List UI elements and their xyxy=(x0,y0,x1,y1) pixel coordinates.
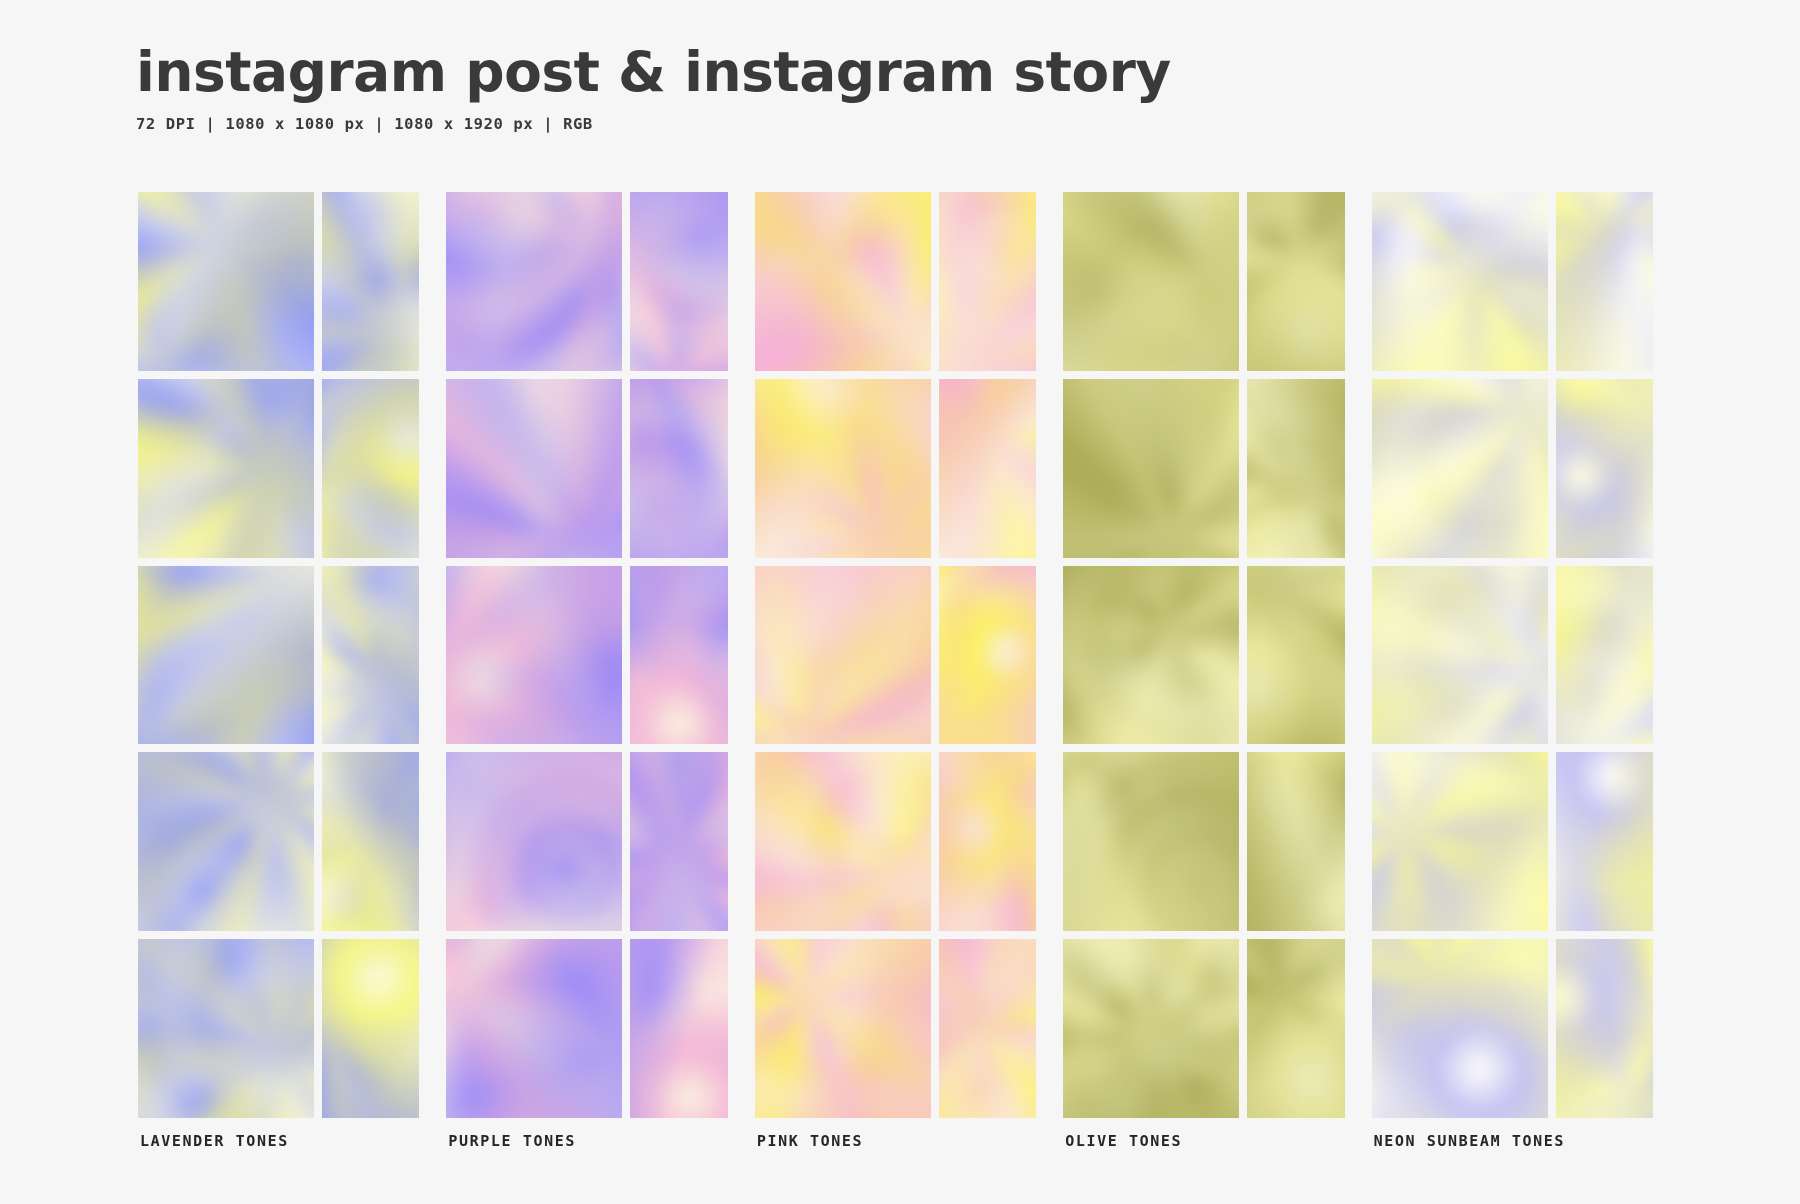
gradient-fade-layer xyxy=(322,379,420,558)
instagram-story-thumbnail[interactable] xyxy=(630,192,728,371)
mockup-row xyxy=(446,192,727,371)
gradient-fade-layer xyxy=(1372,566,1548,745)
mockup-row xyxy=(138,939,419,1118)
gradient-fade-layer xyxy=(1372,939,1548,1118)
instagram-story-thumbnail[interactable] xyxy=(1247,379,1345,558)
tone-group-label: PURPLE TONES xyxy=(448,1132,576,1150)
page-title: instagram post & instagram story xyxy=(136,44,1436,102)
instagram-story-thumbnail[interactable] xyxy=(322,379,420,558)
instagram-story-thumbnail[interactable] xyxy=(322,566,420,745)
gradient-fade-layer xyxy=(1247,566,1345,745)
gradient-fade-layer xyxy=(1372,192,1548,371)
instagram-story-thumbnail[interactable] xyxy=(1247,752,1345,931)
mockup-row xyxy=(1063,192,1344,371)
tone-group-label: LAVENDER TONES xyxy=(140,1132,289,1150)
gradient-fade-layer xyxy=(1556,379,1654,558)
gradient-fade-layer xyxy=(138,379,314,558)
instagram-story-thumbnail[interactable] xyxy=(939,752,1037,931)
gradient-fade-layer xyxy=(138,192,314,371)
instagram-post-thumbnail[interactable] xyxy=(138,566,314,745)
tone-group-label: PINK TONES xyxy=(757,1132,863,1150)
instagram-post-thumbnail[interactable] xyxy=(1372,379,1548,558)
gradient-fade-layer xyxy=(322,566,420,745)
gradient-fade-layer xyxy=(138,939,314,1118)
instagram-post-thumbnail[interactable] xyxy=(446,752,622,931)
instagram-story-thumbnail[interactable] xyxy=(630,566,728,745)
gradient-fade-layer xyxy=(322,192,420,371)
tone-group-label: OLIVE TONES xyxy=(1065,1132,1182,1150)
gradient-fade-layer xyxy=(1247,939,1345,1118)
instagram-post-thumbnail[interactable] xyxy=(755,192,931,371)
instagram-story-thumbnail[interactable] xyxy=(1247,566,1345,745)
gradient-fade-layer xyxy=(939,379,1037,558)
mockup-row xyxy=(1372,192,1653,371)
mockup-row xyxy=(1063,752,1344,931)
instagram-post-thumbnail[interactable] xyxy=(446,192,622,371)
instagram-post-thumbnail[interactable] xyxy=(1372,192,1548,371)
mockup-row xyxy=(755,566,1036,745)
instagram-story-thumbnail[interactable] xyxy=(322,752,420,931)
gradient-fade-layer xyxy=(939,939,1037,1118)
tone-group-pink: PINK TONES xyxy=(755,192,1036,1118)
gradient-fade-layer xyxy=(1063,192,1239,371)
instagram-story-thumbnail[interactable] xyxy=(630,939,728,1118)
instagram-post-thumbnail[interactable] xyxy=(1063,379,1239,558)
instagram-story-thumbnail[interactable] xyxy=(939,939,1037,1118)
tone-group-rows xyxy=(1372,192,1653,1118)
gradient-fade-layer xyxy=(939,566,1037,745)
instagram-post-thumbnail[interactable] xyxy=(446,379,622,558)
gradient-fade-layer xyxy=(630,752,728,931)
gradient-fade-layer xyxy=(322,752,420,931)
instagram-post-thumbnail[interactable] xyxy=(138,752,314,931)
gradient-fade-layer xyxy=(1556,752,1654,931)
tone-group-neon-sunbeam: NEON SUNBEAM TONES xyxy=(1372,192,1653,1118)
gallery-grid: LAVENDER TONESPURPLE TONESPINK TONESOLIV… xyxy=(138,192,1653,1118)
mockup-row xyxy=(446,566,727,745)
mockup-row xyxy=(1372,379,1653,558)
gradient-fade-layer xyxy=(630,379,728,558)
gradient-fade-layer xyxy=(138,752,314,931)
instagram-post-thumbnail[interactable] xyxy=(138,939,314,1118)
mockup-row xyxy=(1372,752,1653,931)
instagram-post-thumbnail[interactable] xyxy=(1372,566,1548,745)
instagram-story-thumbnail[interactable] xyxy=(1556,752,1654,931)
gradient-fade-layer xyxy=(939,752,1037,931)
tone-group-purple: PURPLE TONES xyxy=(446,192,727,1118)
mockup-row xyxy=(1063,939,1344,1118)
instagram-post-thumbnail[interactable] xyxy=(138,379,314,558)
gradient-fade-layer xyxy=(1372,752,1548,931)
gradient-fade-layer xyxy=(630,566,728,745)
gradient-fade-layer xyxy=(446,566,622,745)
instagram-story-thumbnail[interactable] xyxy=(1247,192,1345,371)
gradient-fade-layer xyxy=(1247,192,1345,371)
instagram-story-thumbnail[interactable] xyxy=(1247,939,1345,1118)
instagram-post-thumbnail[interactable] xyxy=(1063,752,1239,931)
tone-group-lavender: LAVENDER TONES xyxy=(138,192,419,1118)
tone-group-label: NEON SUNBEAM TONES xyxy=(1374,1132,1565,1150)
instagram-post-thumbnail[interactable] xyxy=(1063,566,1239,745)
mockup-row xyxy=(138,192,419,371)
mockup-row xyxy=(138,379,419,558)
gradient-fade-layer xyxy=(755,752,931,931)
mockup-row xyxy=(138,566,419,745)
gradient-fade-layer xyxy=(755,192,931,371)
mockup-row xyxy=(1063,379,1344,558)
gradient-fade-layer xyxy=(1063,566,1239,745)
gradient-fade-layer xyxy=(630,192,728,371)
instagram-story-thumbnail[interactable] xyxy=(1556,379,1654,558)
mockup-row xyxy=(1372,566,1653,745)
instagram-post-thumbnail[interactable] xyxy=(1063,939,1239,1118)
instagram-post-thumbnail[interactable] xyxy=(446,939,622,1118)
spec-line: 72 DPI | 1080 x 1080 px | 1080 x 1920 px… xyxy=(136,115,1436,133)
gradient-fade-layer xyxy=(1556,566,1654,745)
instagram-story-thumbnail[interactable] xyxy=(630,379,728,558)
instagram-story-thumbnail[interactable] xyxy=(939,379,1037,558)
gradient-fade-layer xyxy=(1372,379,1548,558)
gradient-fade-layer xyxy=(939,192,1037,371)
instagram-post-thumbnail[interactable] xyxy=(1372,939,1548,1118)
gradient-fade-layer xyxy=(446,192,622,371)
mockup-row xyxy=(755,379,1036,558)
gradient-fade-layer xyxy=(630,939,728,1118)
gradient-fade-layer xyxy=(755,939,931,1118)
instagram-post-thumbnail[interactable] xyxy=(755,379,931,558)
gradient-fade-layer xyxy=(322,939,420,1118)
preview-page: instagram post & instagram story 72 DPI … xyxy=(0,0,1800,1204)
instagram-story-thumbnail[interactable] xyxy=(939,192,1037,371)
instagram-story-thumbnail[interactable] xyxy=(939,566,1037,745)
instagram-story-thumbnail[interactable] xyxy=(322,939,420,1118)
instagram-story-thumbnail[interactable] xyxy=(322,192,420,371)
instagram-post-thumbnail[interactable] xyxy=(755,939,931,1118)
instagram-post-thumbnail[interactable] xyxy=(446,566,622,745)
mockup-row xyxy=(755,752,1036,931)
mockup-row xyxy=(755,192,1036,371)
gradient-fade-layer xyxy=(446,379,622,558)
mockup-row xyxy=(1372,939,1653,1118)
instagram-post-thumbnail[interactable] xyxy=(1063,192,1239,371)
mockup-row xyxy=(446,379,727,558)
gradient-fade-layer xyxy=(1063,379,1239,558)
instagram-story-thumbnail[interactable] xyxy=(630,752,728,931)
gradient-fade-layer xyxy=(1556,192,1654,371)
tone-group-olive: OLIVE TONES xyxy=(1063,192,1344,1118)
tone-group-rows xyxy=(755,192,1036,1118)
gradient-fade-layer xyxy=(1556,939,1654,1118)
gradient-fade-layer xyxy=(138,566,314,745)
gradient-fade-layer xyxy=(755,566,931,745)
gradient-fade-layer xyxy=(1063,939,1239,1118)
mockup-row xyxy=(138,752,419,931)
tone-group-rows xyxy=(138,192,419,1118)
instagram-post-thumbnail[interactable] xyxy=(755,566,931,745)
instagram-post-thumbnail[interactable] xyxy=(1372,752,1548,931)
mockup-row xyxy=(446,752,727,931)
instagram-post-thumbnail[interactable] xyxy=(138,192,314,371)
tone-group-rows xyxy=(1063,192,1344,1118)
mockup-row xyxy=(446,939,727,1118)
gradient-fade-layer xyxy=(446,752,622,931)
header: instagram post & instagram story 72 DPI … xyxy=(136,44,1436,133)
gradient-fade-layer xyxy=(1247,752,1345,931)
instagram-story-thumbnail[interactable] xyxy=(1556,566,1654,745)
mockup-row xyxy=(1063,566,1344,745)
gradient-fade-layer xyxy=(755,379,931,558)
gradient-fade-layer xyxy=(1247,379,1345,558)
instagram-story-thumbnail[interactable] xyxy=(1556,192,1654,371)
instagram-story-thumbnail[interactable] xyxy=(1556,939,1654,1118)
mockup-row xyxy=(755,939,1036,1118)
gradient-fade-layer xyxy=(1063,752,1239,931)
instagram-post-thumbnail[interactable] xyxy=(755,752,931,931)
gradient-fade-layer xyxy=(446,939,622,1118)
tone-group-rows xyxy=(446,192,727,1118)
